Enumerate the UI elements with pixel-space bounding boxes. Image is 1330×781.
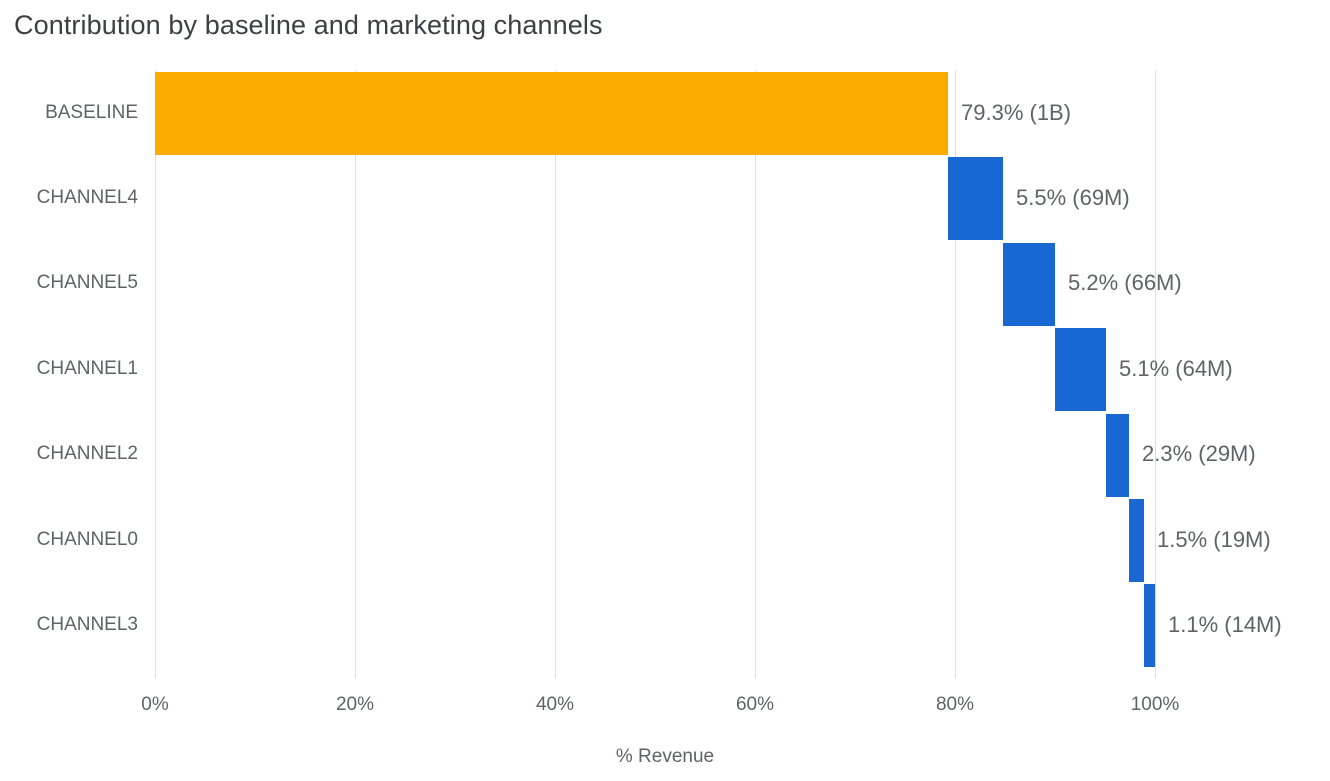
y-axis-label-channel4: CHANNEL4 xyxy=(37,187,138,209)
axis-tick-100pct xyxy=(1155,672,1156,678)
axis-tick-20pct xyxy=(355,672,356,678)
data-label-channel5: 5.2% (66M) xyxy=(1068,270,1182,296)
x-tick-label-40pct: 40% xyxy=(536,694,574,716)
waterfall-chart: Contribution by baseline and marketing c… xyxy=(0,0,1330,781)
data-label-channel3: 1.1% (14M) xyxy=(1168,612,1282,638)
bar-baseline[interactable] xyxy=(155,72,948,155)
x-axis-title: % Revenue xyxy=(0,746,1330,768)
gridline-20pct xyxy=(355,70,356,672)
y-axis-label-channel3: CHANNEL3 xyxy=(37,614,138,636)
bar-channel1[interactable] xyxy=(1055,328,1106,411)
axis-tick-0pct xyxy=(155,672,156,678)
x-tick-label-60pct: 60% xyxy=(736,694,774,716)
bar-channel2[interactable] xyxy=(1106,414,1129,497)
data-label-channel2: 2.3% (29M) xyxy=(1142,441,1256,467)
axis-tick-80pct xyxy=(955,672,956,678)
data-label-channel1: 5.1% (64M) xyxy=(1119,356,1233,382)
gridline-40pct xyxy=(555,70,556,672)
y-axis-label-channel2: CHANNEL2 xyxy=(37,443,138,465)
y-axis-label-channel0: CHANNEL0 xyxy=(37,529,138,551)
bar-channel3[interactable] xyxy=(1144,584,1155,667)
y-axis-label-channel5: CHANNEL5 xyxy=(37,272,138,294)
axis-tick-40pct xyxy=(555,672,556,678)
x-tick-label-20pct: 20% xyxy=(336,694,374,716)
x-tick-label-0pct: 0% xyxy=(141,694,168,716)
y-axis-label-channel1: CHANNEL1 xyxy=(37,358,138,380)
data-label-channel0: 1.5% (19M) xyxy=(1157,527,1271,553)
x-tick-label-100pct: 100% xyxy=(1131,694,1180,716)
data-label-channel4: 5.5% (69M) xyxy=(1016,185,1130,211)
chart-title: Contribution by baseline and marketing c… xyxy=(14,10,603,41)
axis-tick-60pct xyxy=(755,672,756,678)
data-label-baseline: 79.3% (1B) xyxy=(961,100,1071,126)
bar-channel5[interactable] xyxy=(1003,243,1055,326)
bar-channel0[interactable] xyxy=(1129,499,1144,582)
plot-area xyxy=(155,70,1155,672)
gridline-60pct xyxy=(755,70,756,672)
bar-channel4[interactable] xyxy=(948,157,1003,240)
gridline-0pct xyxy=(155,70,156,672)
x-tick-label-80pct: 80% xyxy=(936,694,974,716)
y-axis-label-baseline: BASELINE xyxy=(45,102,138,124)
